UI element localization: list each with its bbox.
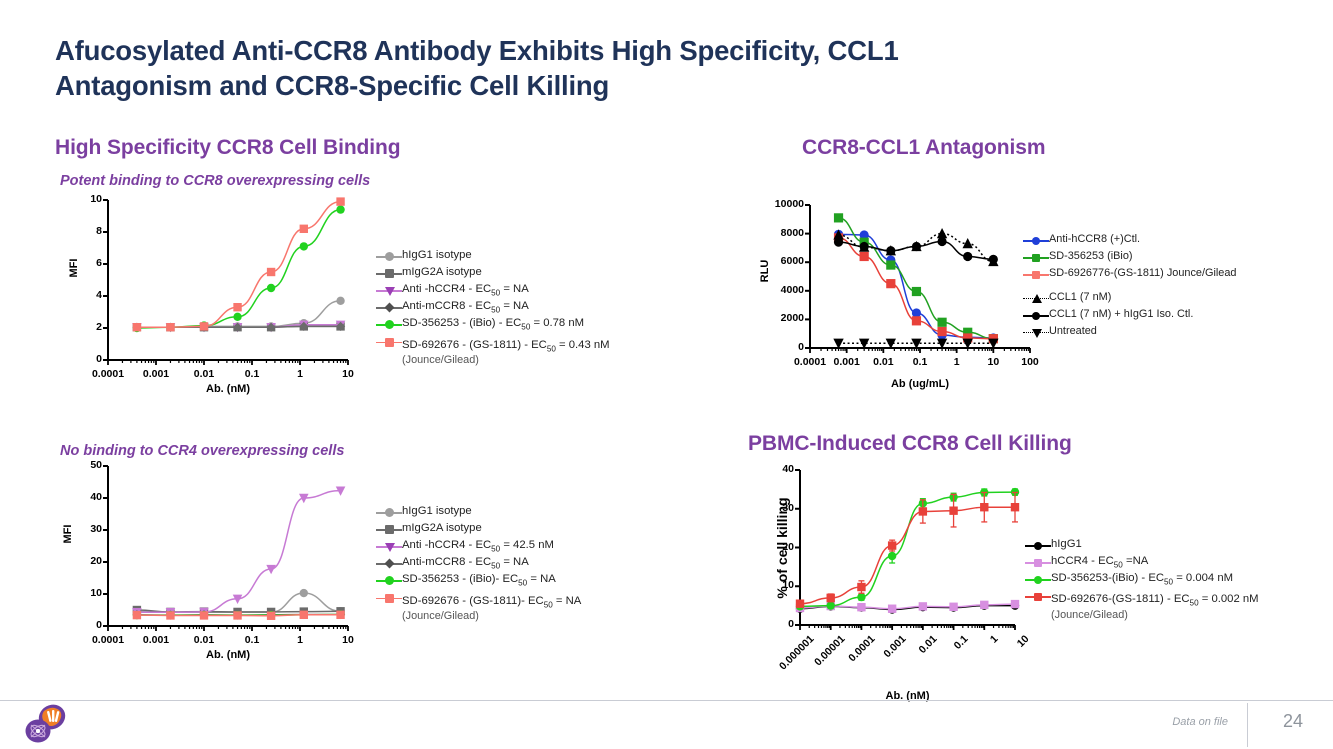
y-tick-label: 50 <box>46 459 102 471</box>
footer-note: Data on file <box>1172 716 1228 728</box>
page-title: Afucosylated Anti-CCR8 Antibody Exhibits… <box>55 33 995 103</box>
legend-key-sd356253-icon <box>1023 250 1049 265</box>
y-tick-label: 10 <box>46 587 102 599</box>
legend-item[interactable]: CCL1 (7 nM) <box>1023 291 1236 306</box>
legend-item[interactable]: SD-692676-(GS-1811) - EC50 = 0.002 nM (J… <box>1025 589 1259 621</box>
y-tick-label: 10000 <box>748 198 804 210</box>
legend-item[interactable]: hCCR4 - EC50 =NA <box>1025 555 1259 570</box>
y-tick-label: 4000 <box>748 284 804 296</box>
legend-item[interactable]: hIgG1 isotype <box>376 249 610 264</box>
legend-item[interactable]: CCL1 (7 nM) + hIgG1 Iso. Ctl. <box>1023 308 1236 323</box>
legend-ccr8-binding: hIgG1 isotype mIgG2A isotype Anti -hCCR4… <box>376 249 610 369</box>
legend-key-untreated-icon <box>1023 325 1049 340</box>
legend-key-sd692676-icon <box>1025 589 1051 604</box>
plot-area-ccr4-binding <box>108 466 348 626</box>
subheader-no-binding: No binding to CCR4 overexpressing cells <box>60 443 344 459</box>
y-tick-label: 0 <box>748 341 804 353</box>
legend-key-hccr4-icon <box>1025 555 1051 570</box>
y-tick-label: 0 <box>738 618 794 630</box>
legend-item[interactable]: SD-356253 - (iBio) - EC50 = 0.78 nM <box>376 317 610 332</box>
legend-key-anti-mccr8-icon <box>376 556 402 571</box>
y-tick-label: 10 <box>738 579 794 591</box>
legend-item[interactable]: SD-692676 - (GS-1811)- EC50 = NA (Jounce… <box>376 591 581 623</box>
x-tick-label: 10 <box>318 634 378 646</box>
y-tick-label: 30 <box>738 502 794 514</box>
legend-label: SD-356253 (iBio) <box>1049 250 1133 263</box>
legend-key-hIgG1-icon <box>376 249 402 264</box>
y-tick-label: 4 <box>46 289 102 301</box>
y-tick-label: 20 <box>738 541 794 553</box>
y-tick-label: 8000 <box>748 227 804 239</box>
chart-ccl1-antagonism <box>810 205 1030 348</box>
legend-label: mIgG2A isotype <box>402 522 482 536</box>
footer-vertical-divider <box>1247 703 1248 747</box>
section-header-ccr8-binding: High Specificity CCR8 Cell Binding <box>55 136 400 160</box>
legend-item[interactable]: Anti-mCCR8 - EC50 = NA <box>376 300 610 315</box>
legend-key-anti-mccr8-icon <box>376 300 402 315</box>
subheader-potent-binding: Potent binding to CCR8 overexpressing ce… <box>60 173 370 189</box>
legend-label: SD-692676-(GS-1811) - EC50 = 0.002 nM <box>1051 593 1259 605</box>
y-tick-label: 0 <box>46 619 102 631</box>
legend-label: hIgG1 isotype <box>402 505 472 519</box>
legend-pbmc-killing: hIgG1 hCCR4 - EC50 =NA SD-356253-(iBio) … <box>1025 538 1259 624</box>
legend-sublabel: (Jounce/Gilead) <box>402 354 610 367</box>
legend-label: SD-692676 - (GS-1811) - EC50 = 0.43 nM <box>402 339 610 351</box>
x-axis-title-ab-nm-2: Ab. (nM) <box>108 649 348 661</box>
legend-item[interactable]: SD-6926776-(GS-1811) Jounce/Gilead <box>1023 267 1236 282</box>
legend-item[interactable]: hIgG1 isotype <box>376 505 581 520</box>
legend-label: SD-356253 - (iBio) - EC50 = 0.78 nM <box>402 317 584 332</box>
chart-pbmc-killing <box>800 470 1015 625</box>
legend-sublabel: (Jounce/Gilead) <box>1051 609 1259 622</box>
legend-key-sd356253-icon <box>376 573 402 588</box>
section-header-pbmc-killing: PBMC-Induced CCR8 Cell Killing <box>748 432 1072 456</box>
x-axis-title-ab-ugml: Ab (ug/mL) <box>810 378 1030 390</box>
y-tick-label: 40 <box>46 491 102 503</box>
y-tick-label: 8 <box>46 225 102 237</box>
legend-label: Anti-hCCR8 (+)Ctl. <box>1049 233 1140 246</box>
legend-key-ccl1-iso-icon <box>1023 308 1049 323</box>
slide-root: Afucosylated Anti-CCR8 Antibody Exhibits… <box>0 0 1333 749</box>
section-header-ccl1-antagonism: CCR8-CCL1 Antagonism <box>802 136 1045 160</box>
legend-item[interactable]: SD-356253 - (iBio)- EC50 = NA <box>376 573 581 588</box>
legend-key-anti-hccr4-icon <box>376 283 402 298</box>
legend-item[interactable]: Anti-hCCR8 (+)Ctl. <box>1023 233 1236 248</box>
legend-item[interactable]: Anti -hCCR4 - EC50 = 42.5 nM <box>376 539 581 554</box>
chart-ccr4-binding <box>108 466 348 626</box>
legend-key-anti-hccr8-icon <box>1023 233 1049 248</box>
legend-label: Untreated <box>1049 325 1097 338</box>
legend-ccr4-binding: hIgG1 isotype mIgG2A isotype Anti -hCCR4… <box>376 505 581 625</box>
chart-ccr8-binding <box>108 200 348 360</box>
y-tick-label: 0 <box>46 353 102 365</box>
plot-area-ccr8-binding <box>108 200 348 360</box>
legend-ccl1-antagonism: Anti-hCCR8 (+)Ctl. SD-356253 (iBio) SD-6… <box>1023 233 1236 342</box>
legend-key-hIgG1-icon <box>1025 538 1051 553</box>
y-tick-label: 2000 <box>748 312 804 324</box>
footer-divider <box>0 700 1333 701</box>
legend-label: CCL1 (7 nM) + hIgG1 Iso. Ctl. <box>1049 308 1193 321</box>
legend-label: SD-6926776-(GS-1811) Jounce/Gilead <box>1049 267 1236 280</box>
y-tick-label: 6 <box>46 257 102 269</box>
legend-label: SD-356253-(iBio) - EC50 = 0.004 nM <box>1051 572 1233 587</box>
y-tick-label: 2 <box>46 321 102 333</box>
dna-atom-logo-icon <box>22 703 70 745</box>
legend-item[interactable]: hIgG1 <box>1025 538 1259 553</box>
legend-label: hCCR4 - EC50 =NA <box>1051 555 1148 570</box>
legend-label: Anti -hCCR4 - EC50 = NA <box>402 283 529 298</box>
legend-label: Anti-mCCR8 - EC50 = NA <box>402 300 529 315</box>
legend-key-sd692676-icon <box>376 591 402 606</box>
legend-item[interactable]: SD-356253-(iBio) - EC50 = 0.004 nM <box>1025 572 1259 587</box>
page-number: 24 <box>1283 711 1303 732</box>
legend-label: SD-356253 - (iBio)- EC50 = NA <box>402 573 556 588</box>
legend-label: SD-692676 - (GS-1811)- EC50 = NA <box>402 595 581 607</box>
legend-key-sd6926776-icon <box>1023 267 1049 282</box>
legend-item[interactable]: Untreated <box>1023 325 1236 340</box>
plot-area-pbmc-killing <box>800 470 1015 625</box>
legend-label: CCL1 (7 nM) <box>1049 291 1111 304</box>
x-axis-title-ab-nm-1: Ab. (nM) <box>108 383 348 395</box>
legend-key-sd356253-icon <box>1025 572 1051 587</box>
legend-label: mIgG2A isotype <box>402 266 482 280</box>
y-tick-label: 40 <box>738 463 794 475</box>
legend-item[interactable]: Anti -hCCR4 - EC50 = NA <box>376 283 610 298</box>
y-tick-label: 10 <box>46 193 102 205</box>
legend-key-sd692676-icon <box>376 335 402 350</box>
legend-key-mIgG2A-icon <box>376 266 402 281</box>
legend-label: Anti-mCCR8 - EC50 = NA <box>402 556 529 571</box>
y-tick-label: 6000 <box>748 255 804 267</box>
legend-label: Anti -hCCR4 - EC50 = 42.5 nM <box>402 539 554 554</box>
x-tick-label: 10 <box>318 368 378 380</box>
y-tick-label: 20 <box>46 555 102 567</box>
legend-item[interactable]: Anti-mCCR8 - EC50 = NA <box>376 556 581 571</box>
legend-key-hIgG1-icon <box>376 505 402 520</box>
legend-item[interactable]: SD-692676 - (GS-1811) - EC50 = 0.43 nM (… <box>376 335 610 367</box>
legend-item[interactable]: mIgG2A isotype <box>376 266 610 281</box>
legend-item[interactable]: mIgG2A isotype <box>376 522 581 537</box>
plot-area-ccl1-antagonism <box>810 205 1030 348</box>
legend-key-mIgG2A-icon <box>376 522 402 537</box>
legend-key-anti-hccr4-icon <box>376 539 402 554</box>
legend-key-ccl1-icon <box>1023 291 1049 306</box>
x-tick-label: 100 <box>1000 356 1060 368</box>
legend-sublabel: (Jounce/Gilead) <box>402 610 581 623</box>
legend-key-sd356253-icon <box>376 317 402 332</box>
legend-item[interactable]: SD-356253 (iBio) <box>1023 250 1236 265</box>
legend-label: hIgG1 <box>1051 538 1082 552</box>
legend-label: hIgG1 isotype <box>402 249 472 263</box>
y-tick-label: 30 <box>46 523 102 535</box>
